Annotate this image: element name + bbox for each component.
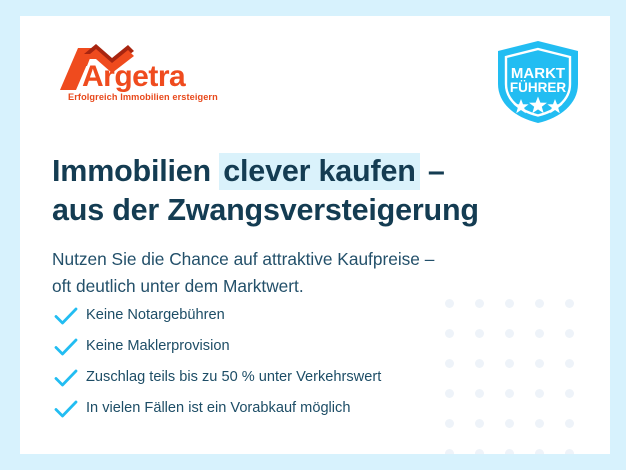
subheading: Nutzen Sie die Chance auf attraktive Kau… xyxy=(52,246,552,299)
subheading-line1: Nutzen Sie die Chance auf attraktive Kau… xyxy=(52,249,434,269)
decorative-dot xyxy=(535,419,544,428)
list-item: Keine Notargebühren xyxy=(53,300,523,331)
headline-line1-before: Immobilien xyxy=(52,154,219,188)
decorative-dot xyxy=(565,449,574,454)
check-icon xyxy=(53,336,80,358)
list-item: Keine Maklerprovision xyxy=(53,331,523,362)
svg-text:Argetra: Argetra xyxy=(82,60,186,93)
headline-line2: aus der Zwangsversteigerung xyxy=(52,191,552,230)
decorative-dot xyxy=(565,389,574,398)
promo-banner: Argetra Erfolgreich Immobilien ersteiger… xyxy=(0,0,626,470)
decorative-dot xyxy=(535,359,544,368)
page-title: Immobilien clever kaufen – aus der Zwang… xyxy=(52,152,552,229)
market-leader-badge: MARKT FÜHRER xyxy=(490,38,586,126)
decorative-dot xyxy=(565,359,574,368)
list-item-label: In vielen Fällen ist ein Vorabkauf mögli… xyxy=(80,401,350,416)
decorative-dot xyxy=(565,329,574,338)
decorative-dot xyxy=(535,329,544,338)
subheading-line2: oft deutlich unter dem Marktwert. xyxy=(52,273,552,299)
list-item: Zuschlag teils bis zu 50 % unter Verkehr… xyxy=(53,362,523,393)
list-item-label: Keine Notargebühren xyxy=(80,308,225,323)
list-item: In vielen Fällen ist ein Vorabkauf mögli… xyxy=(53,393,523,424)
benefits-checklist: Keine NotargebührenKeine Maklerprovision… xyxy=(53,300,523,424)
check-icon xyxy=(53,367,80,389)
check-icon xyxy=(53,305,80,327)
headline-highlight: clever kaufen xyxy=(219,153,419,190)
argetra-logo[interactable]: Argetra Erfolgreich Immobilien ersteiger… xyxy=(56,42,206,114)
banner-card: Argetra Erfolgreich Immobilien ersteiger… xyxy=(20,16,610,454)
decorative-dot xyxy=(475,449,484,454)
decorative-dot xyxy=(535,389,544,398)
decorative-dot xyxy=(535,449,544,454)
list-item-label: Keine Maklerprovision xyxy=(80,339,230,354)
decorative-dot xyxy=(565,419,574,428)
headline-line1-after: – xyxy=(420,154,445,188)
decorative-dot xyxy=(535,299,544,308)
check-icon xyxy=(53,398,80,420)
badge-line2: FÜHRER xyxy=(510,80,566,95)
decorative-dot xyxy=(445,449,454,454)
decorative-dot xyxy=(565,299,574,308)
decorative-dot xyxy=(505,449,514,454)
argetra-a-roof-icon: Argetra xyxy=(56,42,206,94)
list-item-label: Zuschlag teils bis zu 50 % unter Verkehr… xyxy=(80,370,381,385)
logo-tagline: Erfolgreich Immobilien ersteigern xyxy=(68,92,218,102)
